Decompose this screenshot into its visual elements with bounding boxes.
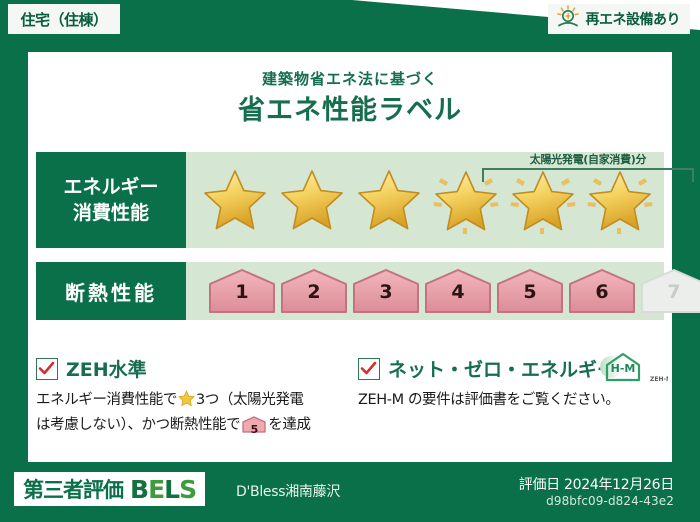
insulation-level-number: 3 [352, 281, 420, 303]
energy-performance-label: エネルギー 消費性能 [36, 152, 186, 248]
zeh-standard-block: ZEH水準 エネルギー消費性能で3つ（太陽光発電は考慮しない）、かつ断熱性能で5… [36, 355, 336, 436]
insulation-level-number: 7 [640, 281, 700, 303]
third-party-label: 第三者評価 [23, 474, 123, 504]
renewable-energy-badge: 再エネ設備あり [548, 4, 691, 34]
insulation-level-number: 2 [280, 281, 348, 303]
zeh-desc-part4: を達成 [268, 417, 310, 433]
insulation-level-number: 4 [424, 281, 492, 303]
net-zero-energy-header: ネット・ゼロ・エネルギー H-M ZEH-M [358, 355, 658, 382]
insulation-level: 5 [496, 268, 564, 314]
insulation-level: 1 [208, 268, 276, 314]
insulation-level-inactive: 7 [640, 268, 700, 314]
zeh-desc-part1: エネルギー消費性能で [36, 392, 177, 408]
insulation-level-number: 6 [568, 281, 636, 303]
renewable-badge-label: 再エネ設備あり [586, 9, 681, 29]
svg-text:ZEH-M: ZEH-M [650, 376, 668, 383]
energy-label-line2: 消費性能 [73, 200, 149, 226]
insulation-level: 6 [568, 268, 636, 314]
energy-label-line1: エネルギー [63, 174, 158, 200]
energy-performance-row: エネルギー 消費性能 太陽光発電(自家消費)分 [36, 152, 664, 248]
star-filled [273, 152, 350, 248]
zeh-standard-checkbox[interactable] [36, 358, 58, 380]
label-subtitle: 建築物省エネ法に基づく [0, 68, 700, 89]
label-title: 省エネ性能ラベル [0, 88, 700, 127]
insulation-level-scale: 1 2 3 4 [186, 262, 664, 320]
insulation-level: 4 [424, 268, 492, 314]
evaluation-id: d98bfc09-d824-43e2 [546, 494, 674, 508]
net-zero-energy-title: ネット・ゼロ・エネルギー [388, 355, 616, 382]
svg-text:H-M: H-M [611, 362, 636, 375]
insulation-scale-area: 1 2 3 4 [186, 262, 664, 320]
solar-caption: 太陽光発電(自家消費)分 [482, 151, 694, 167]
evaluation-date-label: 評価日 [519, 477, 560, 493]
evaluation-date-value: 2024年12月26日 [564, 477, 674, 493]
zeh-m-house-logo: H-M ZEH-M [598, 351, 668, 385]
building-name: D'Bless湘南藤沢 [236, 481, 340, 501]
evaluation-date: 評価日 2024年12月26日 [519, 474, 674, 494]
zeh-standard-title: ZEH水準 [66, 355, 147, 382]
star-filled [350, 152, 427, 248]
bels-letter-l: L [164, 475, 179, 504]
insulation-performance-label: 断熱性能 [36, 262, 186, 320]
building-type-label: 住宅（住棟） [20, 9, 107, 30]
energy-stars-area: 太陽光発電(自家消費)分 [186, 152, 664, 248]
insulation-level: 3 [352, 268, 420, 314]
bels-logo: BELS [130, 475, 196, 504]
gold-star-icon [178, 390, 195, 414]
net-zero-energy-description: ZEH-M の要件は評価書をご覧ください。 [358, 389, 658, 411]
insulation-level-badge-number: 5 [242, 419, 266, 441]
solar-sun-icon [555, 5, 581, 33]
insulation-level-number: 1 [208, 281, 276, 303]
net-zero-energy-checkbox[interactable] [358, 358, 380, 380]
insulation-level: 2 [280, 268, 348, 314]
zeh-desc-part2: 3つ（太陽光発電 [196, 392, 304, 408]
zeh-standard-description: エネルギー消費性能で3つ（太陽光発電は考慮しない）、かつ断熱性能で5を達成 [36, 389, 336, 436]
insulation-level-badge-icon: 5 [242, 416, 266, 433]
bels-letter-b: B [130, 475, 148, 504]
star-filled [196, 152, 273, 248]
zeh-standard-header: ZEH水準 [36, 355, 336, 382]
insulation-level-number: 5 [496, 281, 564, 303]
energy-label-card: 住宅（住棟） 再エネ設備あり 建築物省エネ法に基づく 省エネ性能ラベル [0, 0, 700, 522]
building-type-tab: 住宅（住棟） [8, 4, 120, 34]
zeh-desc-part3: は考慮しない）、かつ断熱性能で [36, 417, 240, 433]
bels-certification-plate: 第三者評価 BELS [14, 472, 205, 506]
insulation-performance-row: 断熱性能 1 2 [36, 262, 664, 320]
bels-letter-e: E [148, 475, 164, 504]
bels-letter-s: S [179, 475, 196, 504]
insulation-label-text: 断熱性能 [65, 277, 157, 306]
net-zero-energy-block: ネット・ゼロ・エネルギー H-M ZEH-M ZEH-M の要件は評価書をご覧く… [358, 355, 658, 411]
footer: 第三者評価 BELS D'Bless湘南藤沢 評価日 2024年12月26日 d… [0, 462, 700, 522]
solar-bracket [482, 168, 694, 182]
